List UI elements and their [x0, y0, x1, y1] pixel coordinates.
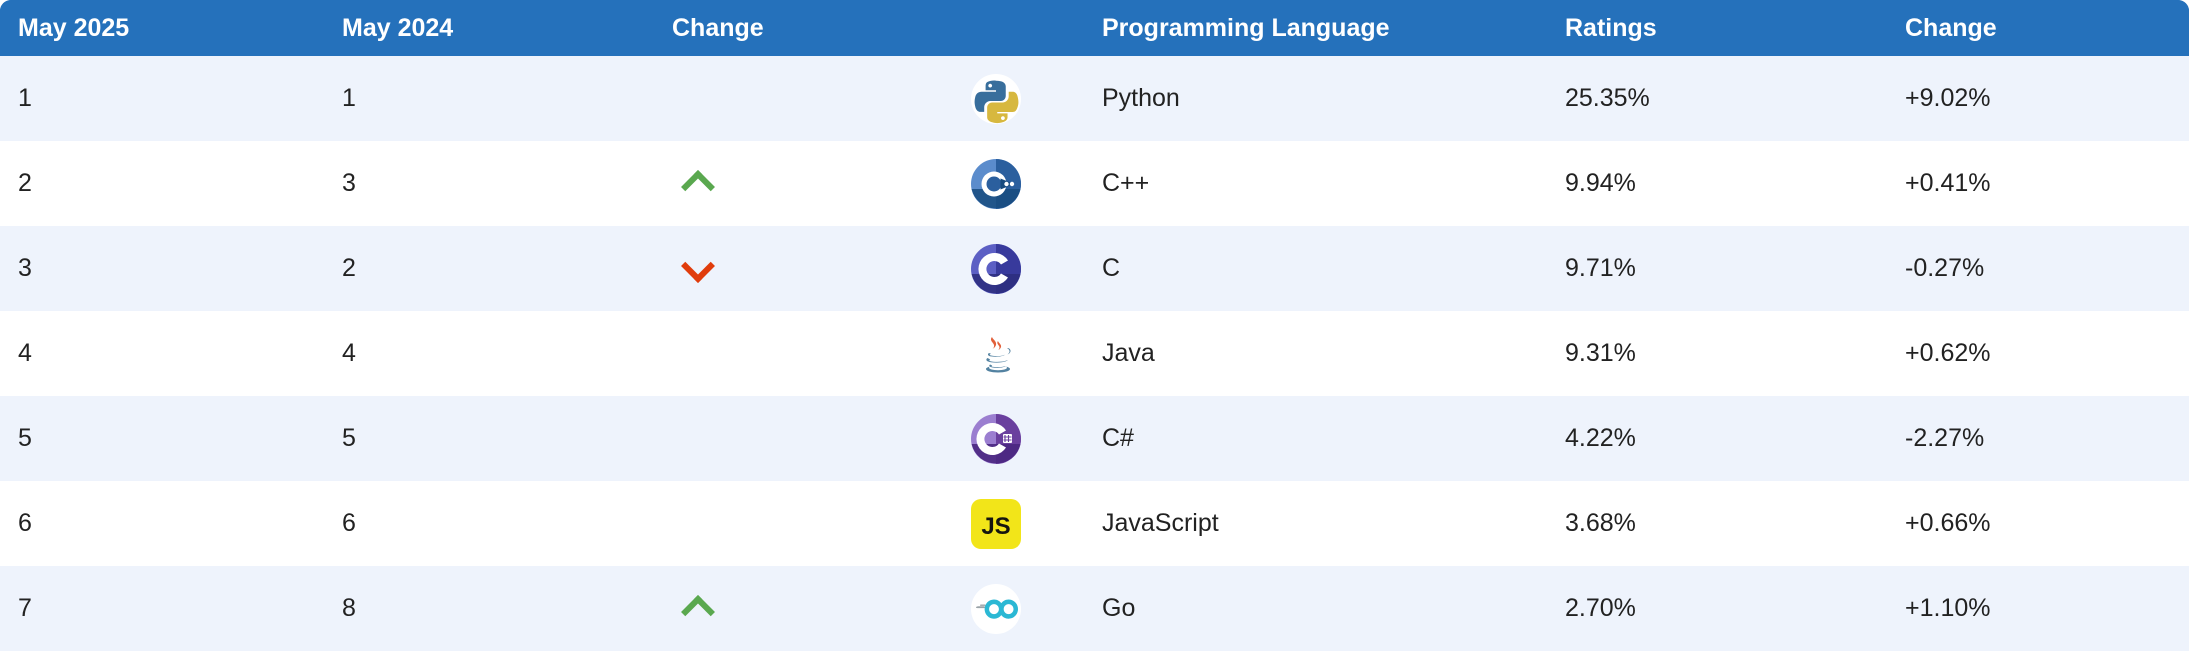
cell-change-percent: -2.27% — [1840, 396, 2189, 481]
cell-language-name[interactable]: Go — [1090, 566, 1500, 651]
table-row[interactable]: 3 2 C 9.71% -0.27% — [0, 226, 2189, 311]
cell-language-name[interactable]: C# — [1090, 396, 1500, 481]
cell-rank-may-2024: 2 — [330, 226, 660, 311]
table-row[interactable]: 5 5 C# 4.22% -2.27% — [0, 396, 2189, 481]
cell-change-percent: -0.27% — [1840, 226, 2189, 311]
cell-language-name[interactable]: JavaScript — [1090, 481, 1500, 566]
cell-rank-may-2024: 1 — [330, 56, 660, 141]
cell-change-percent: +0.41% — [1840, 141, 2189, 226]
javascript-logo-icon: JS — [970, 498, 1022, 550]
table-body: 1 1 Python 25.35% +9.02% 2 3 — [0, 56, 2189, 651]
cell-change-direction — [660, 56, 970, 141]
column-header-change-direction[interactable]: Change — [660, 0, 970, 56]
c-logo-icon — [970, 243, 1022, 295]
cell-rank-may-2025: 4 — [0, 311, 330, 396]
column-header-change-percent[interactable]: Change — [1840, 0, 2189, 56]
cell-language-name[interactable]: Python — [1090, 56, 1500, 141]
cell-rank-may-2025: 5 — [0, 396, 330, 481]
cell-change-percent: +0.66% — [1840, 481, 2189, 566]
table-row[interactable]: 2 3 C++ 9.94% +0.41% — [0, 141, 2189, 226]
column-header-programming-language[interactable]: Programming Language — [1090, 0, 1500, 56]
cell-change-direction — [660, 141, 970, 226]
column-header-may-2025[interactable]: May 2025 — [0, 0, 330, 56]
table-row[interactable]: 7 8 Go 2.70% +1.10% — [0, 566, 2189, 651]
cell-language-logo — [970, 311, 1090, 396]
svg-text:JS: JS — [981, 513, 1010, 540]
cell-language-name[interactable]: C — [1090, 226, 1500, 311]
cell-language-logo — [970, 141, 1090, 226]
cell-change-percent: +9.02% — [1840, 56, 2189, 141]
column-header-logo — [970, 0, 1090, 56]
table-header: May 2025 May 2024 Change Programming Lan… — [0, 0, 2189, 56]
cell-change-direction — [660, 566, 970, 651]
cell-change-percent: +1.10% — [1840, 566, 2189, 651]
cell-rank-may-2024: 3 — [330, 141, 660, 226]
cell-ratings: 3.68% — [1500, 481, 1840, 566]
cell-language-logo — [970, 226, 1090, 311]
tiobe-index-table: May 2025 May 2024 Change Programming Lan… — [0, 0, 2189, 651]
cell-change-direction — [660, 226, 970, 311]
python-logo-icon — [970, 73, 1022, 125]
cell-rank-may-2025: 3 — [0, 226, 330, 311]
cell-language-name[interactable]: Java — [1090, 311, 1500, 396]
chevron-up-icon — [682, 594, 716, 616]
cell-rank-may-2025: 7 — [0, 566, 330, 651]
cell-ratings: 2.70% — [1500, 566, 1840, 651]
cell-rank-may-2025: 2 — [0, 141, 330, 226]
cell-rank-may-2024: 6 — [330, 481, 660, 566]
chevron-up-icon — [682, 169, 716, 191]
cell-ratings: 25.35% — [1500, 56, 1840, 141]
table-row[interactable]: 6 6 JS JavaScript 3.68% +0.66% — [0, 481, 2189, 566]
java-logo-icon — [970, 328, 1022, 380]
cell-change-direction — [660, 311, 970, 396]
cell-language-logo: JS — [970, 481, 1090, 566]
cell-rank-may-2025: 6 — [0, 481, 330, 566]
cell-ratings: 9.71% — [1500, 226, 1840, 311]
column-header-may-2024[interactable]: May 2024 — [330, 0, 660, 56]
cell-language-logo — [970, 396, 1090, 481]
table-row[interactable]: 1 1 Python 25.35% +9.02% — [0, 56, 2189, 141]
cell-ratings: 9.94% — [1500, 141, 1840, 226]
cplusplus-logo-icon — [970, 158, 1022, 210]
csharp-logo-icon — [970, 413, 1022, 465]
cell-change-direction — [660, 396, 970, 481]
table-row[interactable]: 4 4 Java 9.31% +0.62% — [0, 311, 2189, 396]
cell-change-percent: +0.62% — [1840, 311, 2189, 396]
cell-rank-may-2025: 1 — [0, 56, 330, 141]
cell-rank-may-2024: 4 — [330, 311, 660, 396]
cell-language-logo — [970, 56, 1090, 141]
cell-language-logo — [970, 566, 1090, 651]
cell-rank-may-2024: 8 — [330, 566, 660, 651]
cell-language-name[interactable]: C++ — [1090, 141, 1500, 226]
cell-change-direction — [660, 481, 970, 566]
column-header-ratings[interactable]: Ratings — [1500, 0, 1840, 56]
cell-ratings: 4.22% — [1500, 396, 1840, 481]
table-header-row: May 2025 May 2024 Change Programming Lan… — [0, 0, 2189, 56]
go-logo-icon — [970, 583, 1022, 635]
cell-rank-may-2024: 5 — [330, 396, 660, 481]
chevron-down-icon — [682, 254, 716, 276]
cell-ratings: 9.31% — [1500, 311, 1840, 396]
